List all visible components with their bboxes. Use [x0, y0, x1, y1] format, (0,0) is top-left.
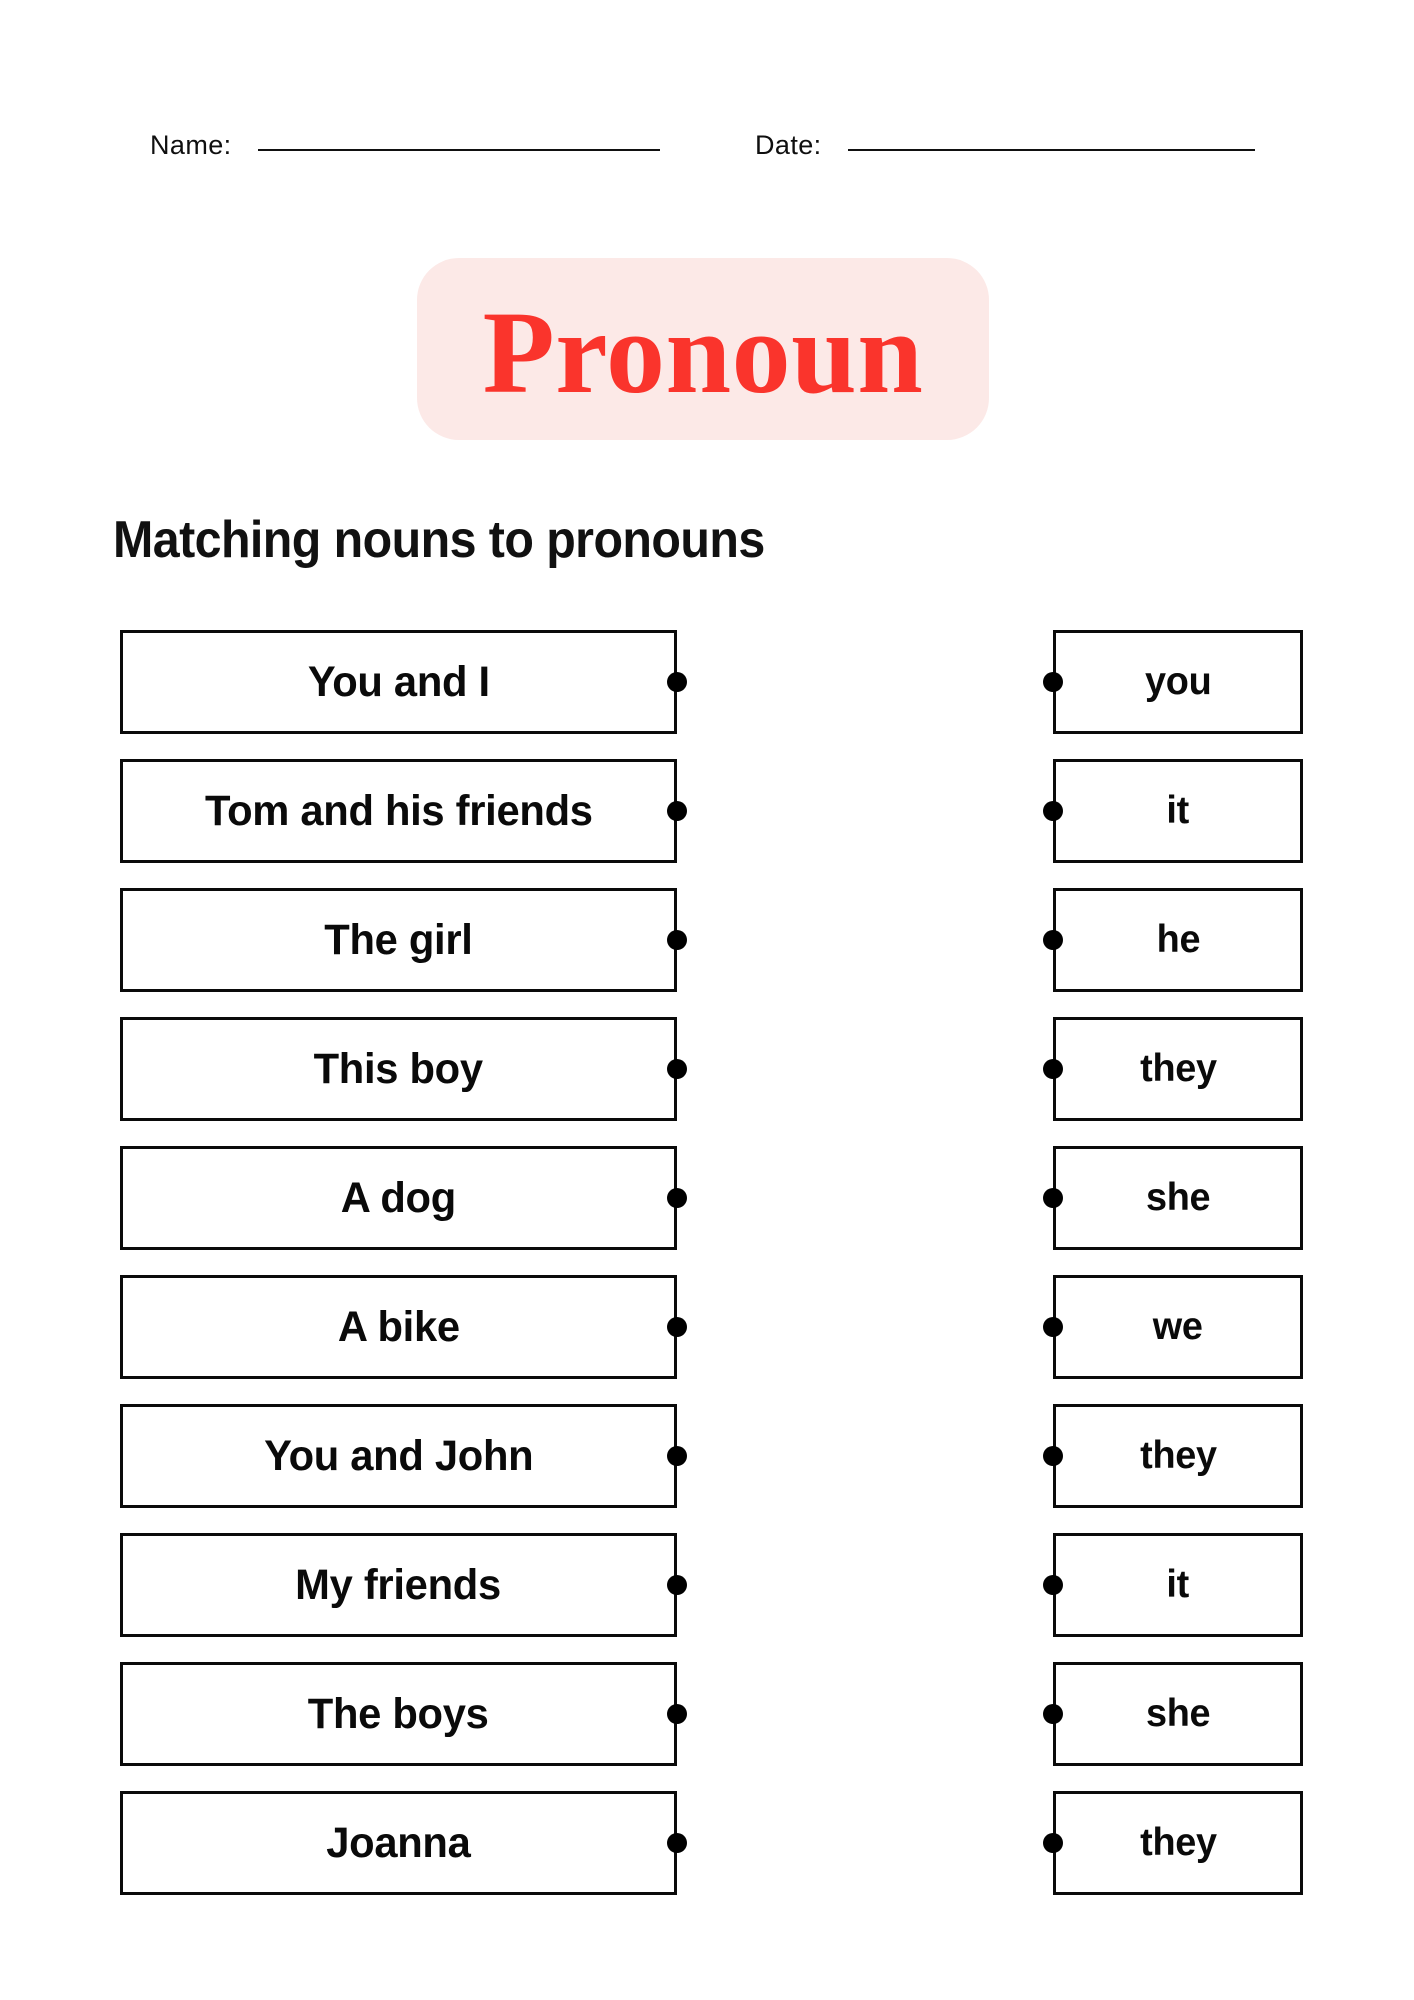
date-field[interactable]: Date: — [755, 130, 1255, 161]
noun-label: A dog — [341, 1174, 456, 1223]
match-row: Tom and his friendsit — [0, 751, 1414, 880]
noun-box[interactable]: The boys — [120, 1662, 677, 1766]
noun-label: Tom and his friends — [205, 787, 593, 836]
match-row: You and Johnthey — [0, 1396, 1414, 1525]
pronoun-label: he — [1156, 918, 1200, 962]
noun-box[interactable]: A dog — [120, 1146, 677, 1250]
pronoun-connector-dot[interactable] — [1043, 801, 1063, 821]
pronoun-connector-dot[interactable] — [1043, 1188, 1063, 1208]
name-field[interactable]: Name: — [150, 130, 660, 161]
title-banner: Pronoun — [417, 258, 989, 440]
noun-box[interactable]: This boy — [120, 1017, 677, 1121]
pronoun-box[interactable]: he — [1053, 888, 1303, 992]
pronoun-box[interactable]: you — [1053, 630, 1303, 734]
pronoun-label: it — [1167, 789, 1190, 833]
noun-label: Joanna — [326, 1819, 470, 1868]
noun-box[interactable]: Tom and his friends — [120, 759, 677, 863]
pronoun-connector-dot[interactable] — [1043, 1575, 1063, 1595]
noun-label: This boy — [314, 1045, 483, 1094]
match-row: Joannathey — [0, 1783, 1414, 1912]
noun-connector-dot[interactable] — [667, 930, 687, 950]
pronoun-box[interactable]: we — [1053, 1275, 1303, 1379]
pronoun-label: they — [1140, 1047, 1217, 1091]
pronoun-label: she — [1146, 1176, 1210, 1220]
pronoun-box[interactable]: she — [1053, 1146, 1303, 1250]
pronoun-connector-dot[interactable] — [1043, 1317, 1063, 1337]
pronoun-label: she — [1146, 1692, 1210, 1736]
match-row: My friendsit — [0, 1525, 1414, 1654]
pronoun-label: you — [1145, 660, 1211, 704]
noun-connector-dot[interactable] — [667, 1575, 687, 1595]
pronoun-box[interactable]: it — [1053, 759, 1303, 863]
noun-label: You and John — [264, 1432, 533, 1481]
noun-connector-dot[interactable] — [667, 1704, 687, 1724]
worksheet-header: Name: Date: — [150, 130, 1270, 161]
pronoun-box[interactable]: they — [1053, 1791, 1303, 1895]
pronoun-connector-dot[interactable] — [1043, 1059, 1063, 1079]
noun-label: The boys — [308, 1690, 489, 1739]
noun-label: The girl — [324, 916, 472, 965]
page-title: Pronoun — [483, 294, 924, 412]
pronoun-label: it — [1167, 1563, 1190, 1607]
pronoun-connector-dot[interactable] — [1043, 672, 1063, 692]
instruction-heading: Matching nouns to pronouns — [113, 510, 765, 570]
noun-connector-dot[interactable] — [667, 1059, 687, 1079]
noun-connector-dot[interactable] — [667, 1188, 687, 1208]
match-row: A bikewe — [0, 1267, 1414, 1396]
date-input-rule[interactable] — [848, 149, 1255, 151]
noun-box[interactable]: You and I — [120, 630, 677, 734]
pronoun-box[interactable]: it — [1053, 1533, 1303, 1637]
pronoun-connector-dot[interactable] — [1043, 1446, 1063, 1466]
noun-box[interactable]: A bike — [120, 1275, 677, 1379]
noun-connector-dot[interactable] — [667, 1446, 687, 1466]
pronoun-label: they — [1140, 1821, 1217, 1865]
pronoun-box[interactable]: they — [1053, 1017, 1303, 1121]
match-row: The boysshe — [0, 1654, 1414, 1783]
pronoun-connector-dot[interactable] — [1043, 930, 1063, 950]
noun-connector-dot[interactable] — [667, 801, 687, 821]
pronoun-connector-dot[interactable] — [1043, 1833, 1063, 1853]
noun-box[interactable]: The girl — [120, 888, 677, 992]
date-label: Date: — [755, 130, 822, 161]
match-row: The girlhe — [0, 880, 1414, 1009]
pronoun-box[interactable]: she — [1053, 1662, 1303, 1766]
noun-box[interactable]: You and John — [120, 1404, 677, 1508]
name-label: Name: — [150, 130, 232, 161]
pronoun-connector-dot[interactable] — [1043, 1704, 1063, 1724]
name-input-rule[interactable] — [258, 149, 660, 151]
noun-box[interactable]: My friends — [120, 1533, 677, 1637]
match-row: A dogshe — [0, 1138, 1414, 1267]
match-row: This boythey — [0, 1009, 1414, 1138]
noun-label: You and I — [308, 658, 490, 707]
match-row: You and Iyou — [0, 622, 1414, 751]
noun-connector-dot[interactable] — [667, 1833, 687, 1853]
pronoun-label: they — [1140, 1434, 1217, 1478]
noun-label: My friends — [296, 1561, 502, 1610]
noun-label: A bike — [338, 1303, 460, 1352]
noun-box[interactable]: Joanna — [120, 1791, 677, 1895]
noun-connector-dot[interactable] — [667, 672, 687, 692]
matching-exercise: You and IyouTom and his friendsitThe gir… — [0, 622, 1414, 1912]
pronoun-label: we — [1153, 1305, 1203, 1349]
noun-connector-dot[interactable] — [667, 1317, 687, 1337]
pronoun-box[interactable]: they — [1053, 1404, 1303, 1508]
